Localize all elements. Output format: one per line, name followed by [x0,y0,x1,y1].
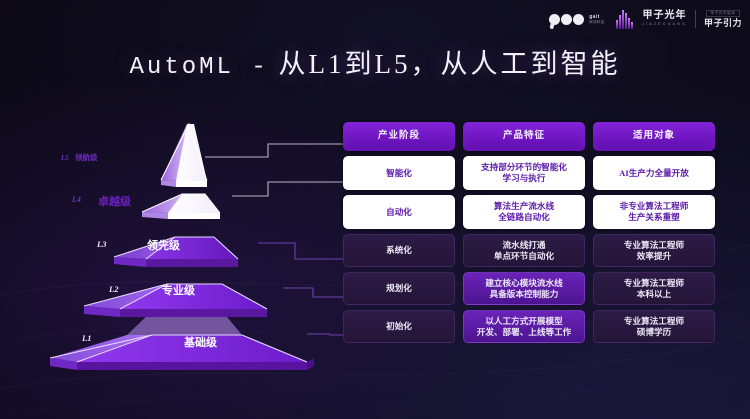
cell-audience-line: AI生产力全量开放 [619,168,689,179]
cell-feature-line: 全链路自动化 [494,212,554,223]
logo-divider [695,10,696,28]
cell-feature-line: 以人工方式开展模型 [477,316,572,327]
cell-audience: 非专业算法工程师 生产关系重塑 [593,195,715,229]
cell-audience-line: 专业算法工程师 [624,316,684,327]
table-row: 智能化 支持部分环节的智能化 学习与执行 AI生产力全量开放 [343,156,723,190]
pyramid-tier-L2 [84,284,267,317]
pyramid-tier-L1 [50,311,314,370]
partner-logo-top: 甲子光年智库 [706,10,739,18]
table-header-feature: 产品特征 [463,122,585,151]
gait-dots-icon [549,14,585,25]
cell-audience-line: 非专业算法工程师 [620,201,689,212]
page-title: AutoML - 从L1到L5，从人工到智能 [0,42,750,81]
cell-audience: 专业算法工程师 硕博学历 [593,310,715,343]
slide-canvas: gait 商汤科技 甲子光年 JIAZEGUANG 甲子光年智库 甲子引力 Au… [0,0,750,419]
purple-bars-icon [616,9,633,29]
table-row: 系统化 流水线打通 单点环节自动化 专业算法工程师 效率提升 [343,234,723,267]
cell-feature-line: 单点环节自动化 [494,251,554,262]
cell-audience-line: 专业算法工程师 [624,240,684,251]
cell-audience-line: 专业算法工程师 [624,278,684,289]
cell-stage: 系统化 [343,234,455,267]
gait-logo: gait 商汤科技 [549,14,606,25]
table-header-row: 产业阶段 产品特征 适用对象 [343,122,723,151]
gait-logo-sub: 商汤科技 [589,20,604,24]
cell-feature-line: 具备版本控制能力 [485,289,562,300]
cell-feature-line: 流水线打通 [494,240,554,251]
partner-logo-mid: 甲子引力 [704,19,742,28]
table-row: 初始化 以人工方式开展模型 开发、部署、上线等工作 专业算法工程师 硕博学历 [343,310,723,343]
cell-audience-line: 效率提升 [624,251,684,262]
table-header-audience: 适用对象 [593,122,715,151]
cell-feature: 以人工方式开展模型 开发、部署、上线等工作 [463,310,585,343]
jiazi-logo-en: JIAZEGUANG [642,23,687,27]
cell-audience-line: 本科以上 [624,289,684,300]
page-title-ascii: AutoML - [130,54,269,81]
table-header-stage: 产业阶段 [343,122,455,151]
jiazi-logo: 甲子光年 JIAZEGUANG [642,11,687,27]
cell-audience: 专业算法工程师 效率提升 [593,234,715,267]
cell-stage: 规划化 [343,272,455,305]
cell-stage: 自动化 [343,195,455,229]
cell-feature-line: 开发、部署、上线等工作 [477,327,572,338]
pyramid-tier-L5 [161,124,207,187]
page-title-cn: 从L1到L5，从人工到智能 [278,49,620,79]
maturity-pyramid: L5 领航级 L4 卓越级 L3 领先级 L2 专业级 L1 基础级 [42,112,332,372]
table-row: 规划化 建立核心模块流水线 具备版本控制能力 专业算法工程师 本科以上 [343,272,723,305]
brand-logo-bar: gait 商汤科技 甲子光年 JIAZEGUANG 甲子光年智库 甲子引力 [549,9,742,29]
pyramid-tier-L4 [142,194,220,219]
cell-feature: 支持部分环节的智能化 学习与执行 [463,156,585,190]
cell-audience: AI生产力全量开放 [593,156,715,190]
table-row: 自动化 算法生产流水线 全链路自动化 非专业算法工程师 生产关系重塑 [343,195,723,229]
cell-feature-line: 支持部分环节的智能化 [481,162,567,173]
cell-feature-line: 学习与执行 [481,173,567,184]
cell-stage: 初始化 [343,310,455,343]
cell-audience-line: 硕博学历 [624,327,684,338]
cell-feature: 算法生产流水线 全链路自动化 [463,195,585,229]
jiazi-logo-cn: 甲子光年 [643,11,687,21]
cell-stage: 智能化 [343,156,455,190]
cell-audience-line: 生产关系重塑 [620,212,689,223]
pyramid-tier-L3 [114,237,238,267]
cell-feature-line: 建立核心模块流水线 [485,278,562,289]
cell-feature-line: 算法生产流水线 [494,201,554,212]
partner-logo: 甲子光年智库 甲子引力 [704,10,742,29]
maturity-table: 产业阶段 产品特征 适用对象 智能化 支持部分环节的智能化 学习与执行 AI生产… [343,122,723,348]
cell-feature: 流水线打通 单点环节自动化 [463,234,585,267]
cell-audience: 专业算法工程师 本科以上 [593,272,715,305]
cell-feature: 建立核心模块流水线 具备版本控制能力 [463,272,585,305]
